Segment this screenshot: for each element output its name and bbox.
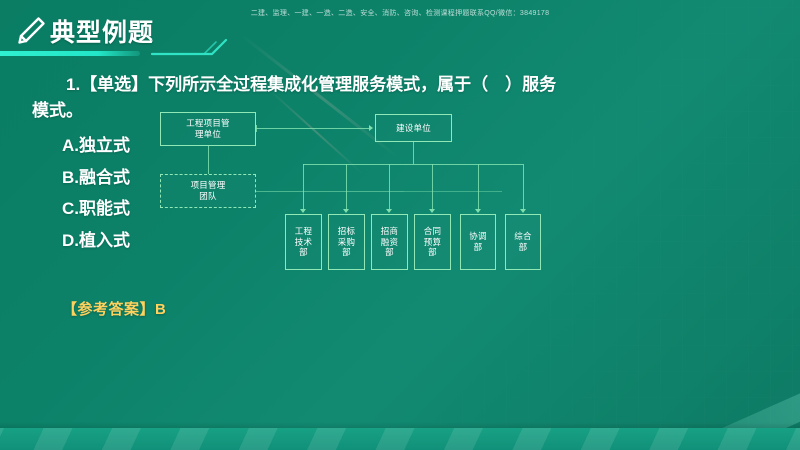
chevron-decoration-icon xyxy=(150,38,230,56)
page-title: 典型例题 xyxy=(50,13,154,49)
edge-bus-to-dept-5-arrowhead xyxy=(475,209,481,213)
pencil-icon xyxy=(14,14,48,48)
option-a[interactable]: A.独立式 xyxy=(62,130,130,162)
answer-value: B xyxy=(155,301,166,318)
node-dept-general-label: 综合部 xyxy=(514,231,531,253)
node-dept-procurement: 招标采购部 xyxy=(328,214,365,270)
node-dept-coordination-label: 协调部 xyxy=(469,231,486,253)
node-pm-unit: 工程项目管理单位 xyxy=(160,112,256,146)
promo-banner-top: 二建、监理、一建、一造、二造、安全、消防、咨询、检测课程押题联系QQ/微信：38… xyxy=(0,8,800,18)
option-b[interactable]: B.融合式 xyxy=(62,162,130,194)
edge-bus-to-dept-5 xyxy=(478,164,479,210)
node-dept-contract-budget-label: 合同预算部 xyxy=(424,226,441,259)
node-dept-coordination: 协调部 xyxy=(460,214,496,270)
option-c[interactable]: C.职能式 xyxy=(62,193,130,225)
edge-pm-unit-to-pm-team xyxy=(208,146,209,174)
edge-pm-unit-to-owner-arrowhead xyxy=(369,125,373,131)
edge-owner-drop xyxy=(413,142,414,164)
edge-pm-unit-to-owner xyxy=(256,128,371,129)
edge-pm-team-to-dept-bus xyxy=(256,191,404,192)
edge-bus-to-dept-3 xyxy=(389,164,390,210)
option-list: A.独立式 B.融合式 C.职能式 D.植入式 xyxy=(62,130,130,256)
node-dept-financing: 招商融资部 xyxy=(371,214,408,270)
edge-bus-to-dept-1 xyxy=(303,164,304,210)
node-dept-procurement-label: 招标采购部 xyxy=(338,226,355,259)
node-owner: 建设单位 xyxy=(375,114,452,142)
edge-bus-to-dept-2-arrowhead xyxy=(343,209,349,213)
node-pm-team: 项目管理团队 xyxy=(160,174,256,208)
node-dept-contract-budget: 合同预算部 xyxy=(414,214,451,270)
edge-pm-team-to-dept-bus-ext xyxy=(404,191,502,192)
slide-canvas: 典型例题 二建、监理、一建、一造、二造、安全、消防、咨询、检测课程押题联系QQ/… xyxy=(0,0,800,450)
edge-dept-bus xyxy=(303,164,523,165)
bottom-decorative-band xyxy=(0,428,800,450)
answer-label: 【参考答案】 xyxy=(62,301,155,318)
edge-pm-unit-stub xyxy=(256,125,257,132)
node-pm-team-label: 项目管理团队 xyxy=(191,180,226,202)
node-dept-engineering: 工程技术部 xyxy=(285,214,322,270)
node-pm-unit-label: 工程项目管理单位 xyxy=(186,118,230,140)
edge-bus-to-dept-4 xyxy=(432,164,433,210)
node-dept-financing-label: 招商融资部 xyxy=(381,226,398,259)
org-chart: 工程项目管理单位 建设单位 项目管理团队 工程技术部 招标采购部 招商融资部 合… xyxy=(160,110,570,280)
edge-bus-to-dept-2 xyxy=(346,164,347,210)
edge-bus-to-dept-1-arrowhead xyxy=(300,209,306,213)
node-dept-general: 综合部 xyxy=(505,214,541,270)
node-owner-label: 建设单位 xyxy=(396,123,431,134)
title-underline xyxy=(0,51,140,56)
edge-bus-to-dept-6 xyxy=(523,164,524,210)
reference-answer: 【参考答案】B xyxy=(62,298,166,319)
node-dept-engineering-label: 工程技术部 xyxy=(295,226,312,259)
edge-bus-to-dept-3-arrowhead xyxy=(386,209,392,213)
option-d[interactable]: D.植入式 xyxy=(62,225,130,257)
edge-bus-to-dept-6-arrowhead xyxy=(520,209,526,213)
edge-bus-to-dept-4-arrowhead xyxy=(429,209,435,213)
